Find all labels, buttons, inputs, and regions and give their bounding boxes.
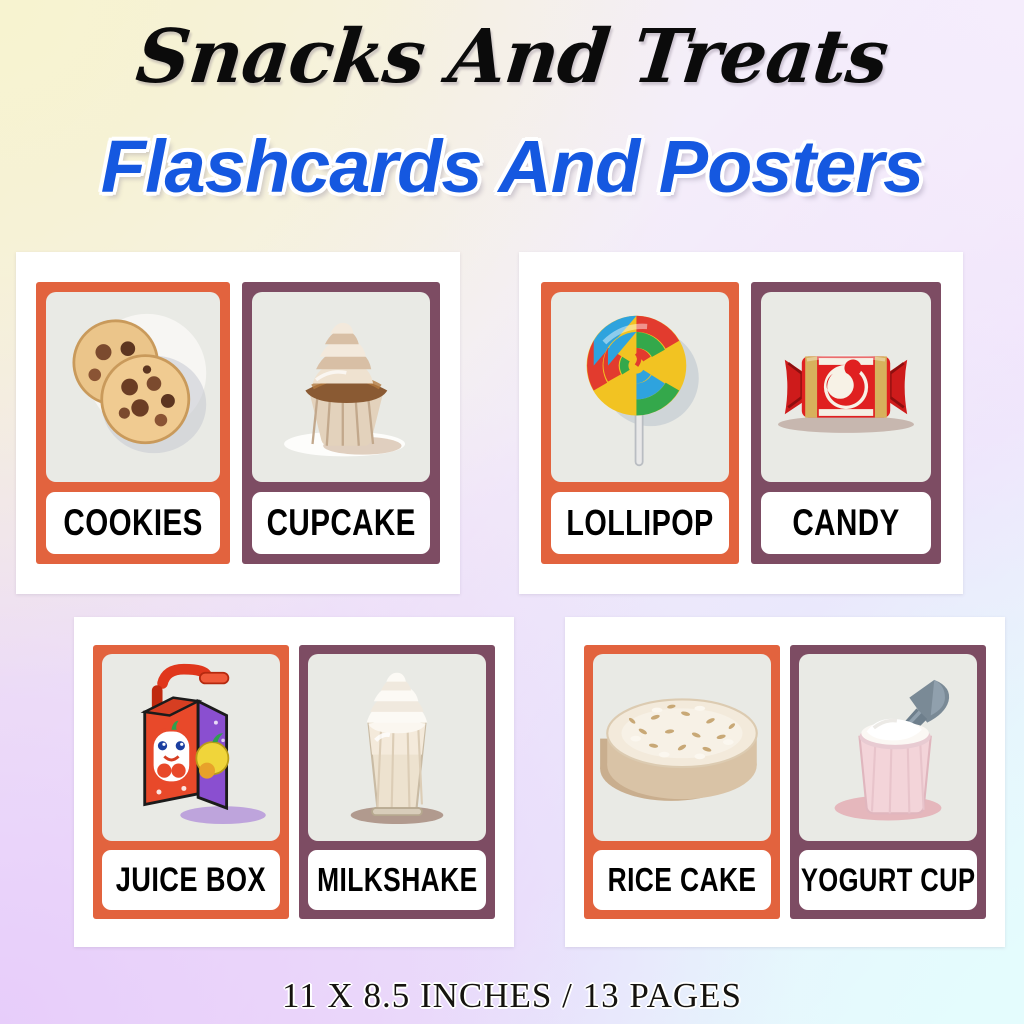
- candy-icon: [761, 292, 931, 482]
- card-label: CUPCAKE: [266, 502, 415, 544]
- flashcard-cupcake[interactable]: CUPCAKE: [242, 282, 440, 564]
- poster-stage: Snacks And Treats Flashcards And Posters: [0, 0, 1024, 1024]
- card-label: CANDY: [792, 502, 899, 544]
- page-title: Flashcards And Posters: [0, 124, 1024, 209]
- cookies-icon: [46, 292, 220, 482]
- label-box-yogurt-cup: YOGURT CUP: [799, 850, 977, 910]
- card-label: YOGURT CUP: [801, 862, 976, 899]
- flashcard-yogurt-cup[interactable]: YOGURT CUP: [790, 645, 986, 919]
- milkshake-icon: [308, 654, 486, 841]
- flashcard-rice-cake[interactable]: RICE CAKE: [584, 645, 780, 919]
- card-label: LOLLIPOP: [566, 502, 713, 544]
- lollipop-icon: [551, 292, 729, 482]
- card-label: COOKIES: [63, 502, 202, 544]
- rice-cake-icon: [593, 654, 771, 841]
- juice-box-icon: [102, 654, 280, 841]
- cupcake-icon: [252, 292, 430, 482]
- card-label: JUICE BOX: [116, 861, 266, 900]
- flashcard-cookies[interactable]: COOKIES: [36, 282, 230, 564]
- yogurt-cup-icon: [799, 654, 977, 841]
- label-box-milkshake: MILKSHAKE: [308, 850, 486, 910]
- label-box-cookies: COOKIES: [46, 492, 220, 554]
- panel-bottom-left[interactable]: JUICE BOX: [74, 617, 514, 947]
- label-box-lollipop: LOLLIPOP: [551, 492, 729, 554]
- label-box-juice-box: JUICE BOX: [102, 850, 280, 910]
- panel-top-left[interactable]: COOKIES: [16, 252, 460, 594]
- panel-top-right[interactable]: LOLLIPOP: [519, 252, 963, 594]
- panel-bottom-right[interactable]: RICE CAKE: [565, 617, 1005, 947]
- flashcard-candy[interactable]: CANDY: [751, 282, 941, 564]
- label-box-cupcake: CUPCAKE: [252, 492, 430, 554]
- size-pages-caption: 11 X 8.5 INCHES / 13 PAGES: [0, 976, 1024, 1016]
- label-box-candy: CANDY: [761, 492, 931, 554]
- card-label: RICE CAKE: [608, 861, 757, 899]
- flashcard-milkshake[interactable]: MILKSHAKE: [299, 645, 495, 919]
- card-label: MILKSHAKE: [317, 861, 478, 899]
- flashcard-lollipop[interactable]: LOLLIPOP: [541, 282, 739, 564]
- flashcard-juice-box[interactable]: JUICE BOX: [93, 645, 289, 919]
- script-title: Snacks And Treats: [0, 14, 1024, 100]
- label-box-rice-cake: RICE CAKE: [593, 850, 771, 910]
